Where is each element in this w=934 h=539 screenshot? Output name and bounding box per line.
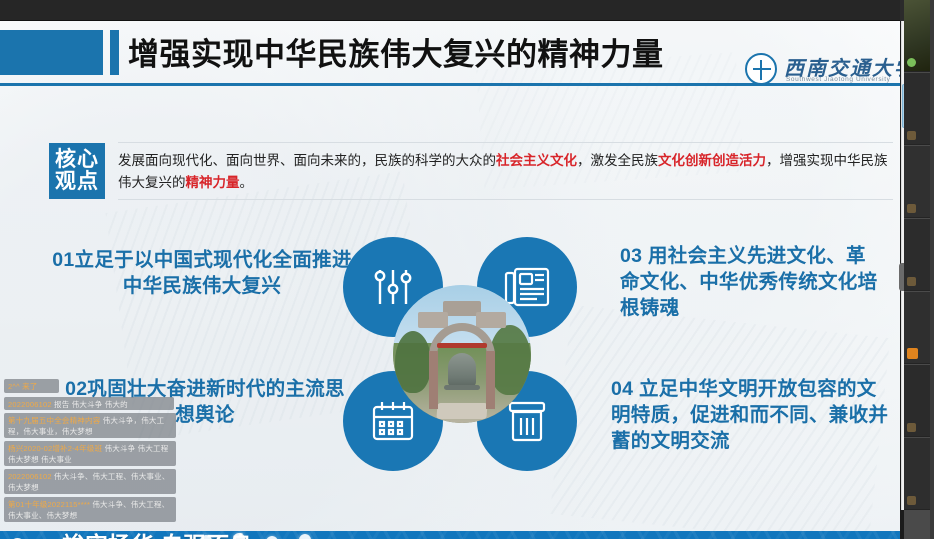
center-graphic: [335, 229, 585, 479]
participant-thumbnail[interactable]: [904, 73, 930, 145]
arch-capital-left: [418, 312, 448, 328]
core-text-2: ，激发全民族: [577, 153, 658, 168]
mic-status-icon: [907, 496, 916, 505]
campus-bell-photo: [393, 285, 531, 423]
chat-message: 第01十年级2022115**** 伟大斗争、伟大工程、伟大事业、伟大梦想: [4, 497, 176, 522]
mic-status-icon: [907, 204, 916, 213]
core-text-4: 。: [240, 175, 254, 190]
participant-thumbnail[interactable]: [904, 146, 930, 218]
chat-message: 第十九届五中全会精神内容 伟大斗争，伟大工程，伟大事业，伟大梦想: [4, 413, 176, 438]
participant-thumbnail[interactable]: [904, 219, 930, 291]
point-01: 01立足于以中国式现代化全面推进中华民族伟大复兴: [52, 247, 352, 299]
participant-rail: [904, 0, 934, 539]
university-seal-icon: [745, 53, 777, 85]
core-highlight-3: 精神力量: [186, 175, 240, 190]
chat-overlay: 2^^ 来了 2022006102 报告 伟大斗争 伟大的 第十九届五中全会精神…: [4, 379, 180, 527]
bell-shape: [448, 353, 476, 387]
arch-red-beam: [437, 343, 487, 348]
page-title: 增强实现中华民族伟大复兴的精神力量: [128, 34, 728, 76]
top-chrome-strip: [0, 0, 934, 21]
arch-column-right: [486, 351, 495, 409]
mic-status-icon: [907, 423, 916, 432]
point-04: 04 立足中华文明开放包容的文明特质，促进和而不同、兼收并蓄的文明交流: [611, 376, 891, 454]
reaction-dot: [299, 534, 311, 539]
mic-status-icon: [907, 131, 916, 140]
core-text-1: 发展面向现代化、面向世界、面向未来的，民族的科学的大众的: [118, 153, 496, 168]
chat-message-body: 2^^ 来了: [8, 382, 38, 391]
chat-message: 杨兴2020-02增补2-4年级班 伟大斗争 伟大工程 伟大梦想 伟大事业: [4, 441, 176, 466]
meeting-screen-share-view: 增强实现中华民族伟大复兴的精神力量 西南交通大学 Southwest Jiaot…: [0, 0, 934, 539]
top-chrome-inner: [0, 0, 900, 21]
core-divider-bottom: [118, 199, 893, 200]
reaction-dot: [233, 533, 245, 539]
core-highlight-1: 社会主义文化: [496, 153, 577, 168]
mic-status-icon: [907, 348, 918, 359]
photo-bell-arch: [415, 301, 509, 409]
title-accent-tick: [110, 30, 119, 75]
core-point-text: 发展面向现代化、面向世界、面向未来的，民族的科学的大众的社会主义文化，激发全民族…: [118, 150, 896, 194]
mic-status-icon: [907, 58, 916, 67]
core-divider-top: [118, 142, 893, 143]
mic-status-icon: [907, 277, 916, 286]
logo-name-en: Southwest Jiaotong University: [786, 76, 890, 83]
core-point-badge: 核心 观点: [49, 143, 105, 199]
chat-message-name: 杨兴2020-02增补2-4年级班: [8, 444, 102, 453]
participant-thumbnail[interactable]: [904, 292, 930, 364]
point-03: 03 用社会主义先进文化、革命文化、中华优秀传统文化培根铸魂: [620, 243, 885, 321]
title-accent-block: [0, 30, 103, 75]
chat-message-body: 报告 伟大斗争 伟大的: [54, 400, 128, 409]
chat-message-name: 第十九届五中全会精神内容: [8, 416, 100, 425]
chat-message: 2^^ 来了: [4, 379, 59, 393]
chat-message-name: 2022006102: [8, 400, 52, 409]
participant-thumbnail[interactable]: [904, 365, 930, 437]
chat-message-name: 第01十年级2022115****: [8, 500, 90, 509]
participant-thumbnail[interactable]: [904, 438, 930, 510]
participant-thumbnail[interactable]: [904, 0, 930, 72]
arch-column-left: [429, 351, 438, 409]
core-badge-line1: 核心: [55, 149, 99, 171]
chat-message: 2022006102 报告 伟大斗争 伟大的: [4, 397, 174, 410]
core-badge-line2: 观点: [55, 171, 99, 193]
chat-message: 2022006102 伟大斗争、伟大工程、伟大事业、伟大梦想: [4, 469, 176, 494]
chat-message-name: 2022006102: [8, 472, 52, 481]
arch-capital-right: [476, 312, 506, 328]
university-logo: 西南交通大学 Southwest Jiaotong University: [745, 52, 895, 88]
shared-slide: 增强实现中华民族伟大复兴的精神力量 西南交通大学 Southwest Jiaot…: [0, 21, 900, 539]
core-highlight-2: 文化创新创造活力: [658, 153, 766, 168]
